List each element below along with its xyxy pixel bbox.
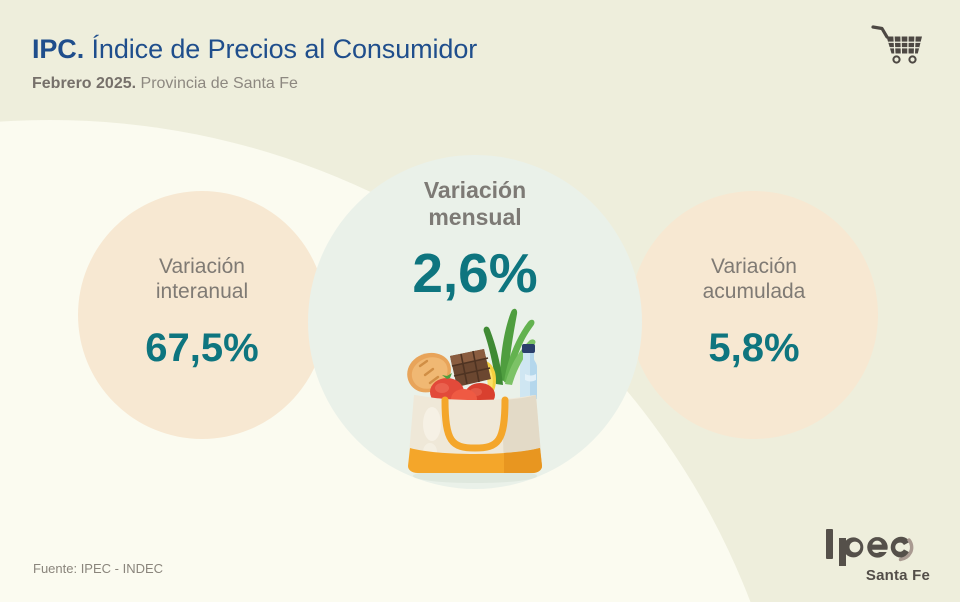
ipec-logo: Santa Fe [822, 526, 930, 584]
stat-interanual-value: 67,5% [78, 328, 326, 368]
infographic-poster: IPC. Índice de Precios al Consumidor Feb… [0, 0, 960, 602]
source-note: Fuente: IPEC - INDEC [33, 561, 163, 576]
shopping-cart-icon [870, 22, 926, 66]
stat-interanual-label-line1: Variación [159, 255, 245, 278]
stat-acumulada-value: 5,8% [630, 328, 878, 368]
stat-mensual-label: Variación mensual [308, 177, 642, 231]
water-bottle-icon [520, 344, 537, 399]
stat-interanual-label: Variación interanual [78, 255, 326, 305]
stat-acumulada-label-line1: Variación [711, 255, 797, 278]
stat-acumulada-label: Variación acumulada [630, 255, 878, 305]
tote-bag-icon [408, 395, 542, 473]
stat-interanual-label-line2: interanual [156, 280, 248, 303]
header: IPC. Índice de Precios al Consumidor Feb… [32, 34, 477, 93]
ipec-logo-subtitle: Santa Fe [822, 567, 930, 584]
subtitle-period: Febrero 2025. [32, 75, 136, 92]
stat-mensual-value: 2,6% [308, 246, 642, 301]
ipec-logo-mark [822, 526, 930, 566]
page-subtitle: Febrero 2025. Provincia de Santa Fe [32, 74, 477, 93]
stat-acumulada: Variación acumulada 5,8% [630, 255, 878, 368]
page-title: IPC. Índice de Precios al Consumidor [32, 34, 477, 65]
stat-mensual-label-line2: mensual [428, 204, 521, 230]
stat-mensual-label-line1: Variación [424, 177, 526, 203]
page-title-acronym: IPC. [32, 34, 84, 64]
stat-interanual: Variación interanual 67,5% [78, 255, 326, 368]
stat-mensual: Variación mensual 2,6% [308, 177, 642, 301]
stat-acumulada-label-line2: acumulada [703, 280, 806, 303]
grocery-bag-illustration [392, 296, 558, 488]
subtitle-region: Provincia de Santa Fe [141, 75, 298, 92]
page-title-text: Índice de Precios al Consumidor [92, 34, 478, 64]
